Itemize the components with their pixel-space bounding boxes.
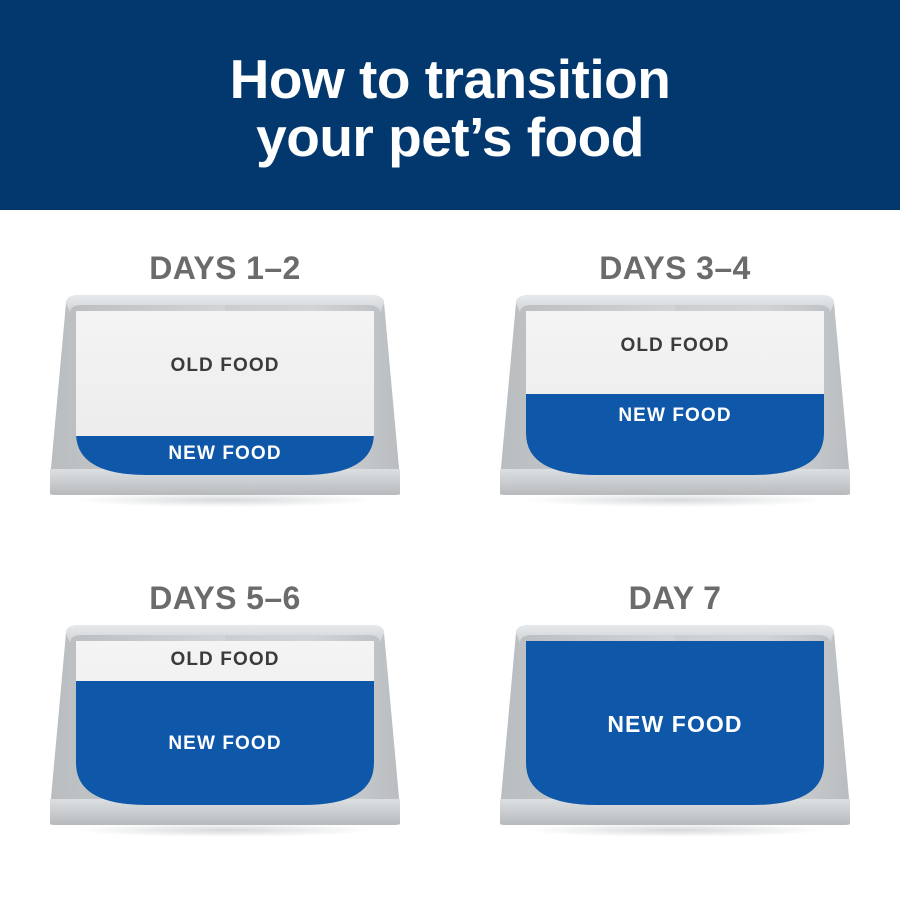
bowl-graphic-3 <box>50 623 400 838</box>
new-food-fill <box>520 637 830 811</box>
bowl-shadow <box>75 493 375 507</box>
bowl-shadow <box>75 823 375 837</box>
transition-step-4: DAY 7 <box>450 540 900 870</box>
new-food-fill <box>520 394 830 481</box>
transition-step-2: DAYS 3–4 <box>450 210 900 540</box>
step-label-1: DAYS 1–2 <box>149 250 300 287</box>
bowl-graphic-2 <box>500 293 850 508</box>
bowl-4: NEW FOOD <box>500 623 850 838</box>
page-title-line1: How to transition <box>230 48 671 110</box>
infographic-page: How to transition your pet’s food DAYS 1… <box>0 0 900 900</box>
page-title: How to transition your pet’s food <box>230 44 671 167</box>
step-label-3: DAYS 5–6 <box>149 580 300 617</box>
step-label-4: DAY 7 <box>629 580 722 617</box>
bowl-2: OLD FOOD NEW FOOD <box>500 293 850 508</box>
bowl-food-well-1 <box>70 307 380 481</box>
page-title-line2: your pet’s food <box>230 108 671 166</box>
transition-step-3: DAYS 5–6 <box>0 540 450 870</box>
bowl-graphic-4 <box>500 623 850 838</box>
bowl-food-well-2 <box>520 307 830 481</box>
bowl-shadow <box>525 823 825 837</box>
new-food-fill <box>70 681 380 811</box>
bowl-shadow <box>525 493 825 507</box>
bowl-food-well-3 <box>70 637 380 811</box>
transition-steps-grid: DAYS 1–2 <box>0 210 900 900</box>
step-label-2: DAYS 3–4 <box>599 250 750 287</box>
bowl-1: OLD FOOD NEW FOOD <box>50 293 400 508</box>
bowl-3: OLD FOOD NEW FOOD <box>50 623 400 838</box>
page-header: How to transition your pet’s food <box>0 0 900 210</box>
transition-step-1: DAYS 1–2 <box>0 210 450 540</box>
bowl-graphic-1 <box>50 293 400 508</box>
bowl-food-well-4 <box>520 637 830 811</box>
